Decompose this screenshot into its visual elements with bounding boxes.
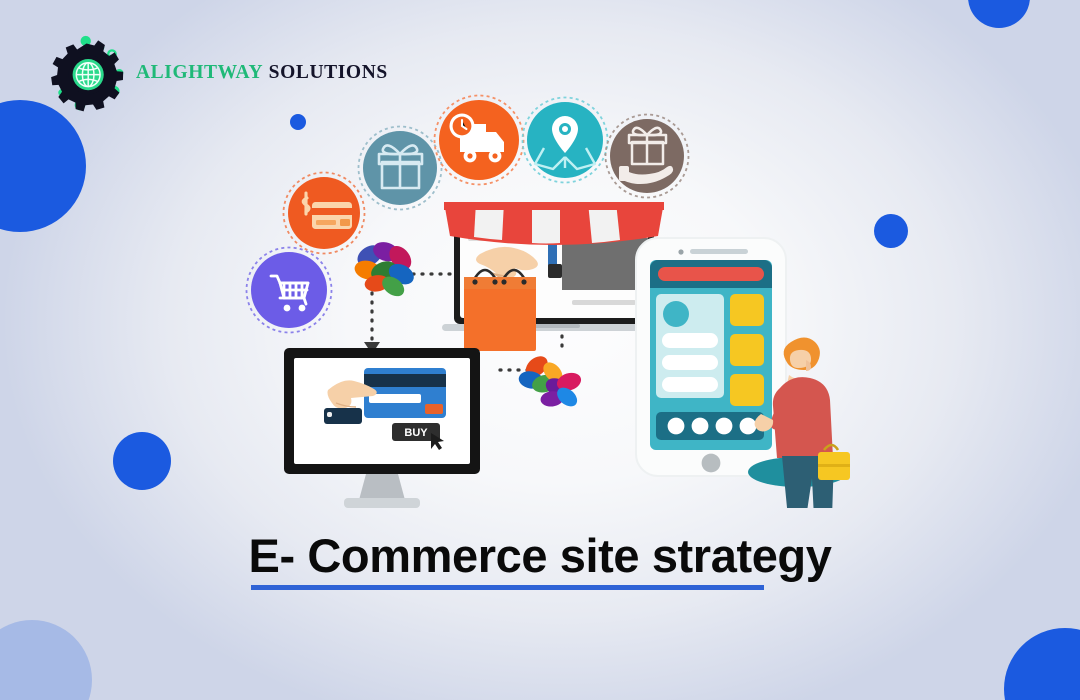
decor-circle-mid-left [113, 432, 171, 490]
location-badge [523, 98, 608, 183]
gift-badge [359, 127, 442, 210]
shopping-bag [464, 270, 536, 351]
page-title: E- Commerce site strategy [249, 528, 832, 590]
credit-card-badge [284, 173, 365, 254]
mobile-shopping-scene [636, 238, 786, 476]
desktop-checkout-scene: BUY [284, 348, 480, 508]
fast-delivery-badge [435, 96, 524, 185]
storefront-laptop-scene [438, 202, 666, 351]
page-title-text: E- Commerce site strategy [249, 529, 832, 582]
pinwheel-decoration-upper [353, 239, 418, 300]
decor-circle-left-large [0, 100, 86, 232]
shopping-cart-badge [247, 248, 332, 333]
title-block: E- Commerce site strategy [0, 528, 1080, 590]
gift-in-hand-badge [606, 115, 689, 198]
decor-circle-right-small [874, 214, 908, 248]
poster-canvas: ALIGHTWAY SOLUTIONS [0, 0, 1080, 700]
buy-button-label: BUY [404, 427, 428, 439]
decor-circle-bottom-right [1004, 628, 1080, 700]
gear-globe-network-icon [48, 32, 130, 112]
pinwheel-decoration-lower [517, 352, 583, 410]
decor-circle-top-right [968, 0, 1030, 28]
e-commerce-strategy-illustration: BUY [232, 78, 872, 508]
decor-circle-bottom-left [0, 620, 92, 700]
title-underline [251, 585, 764, 590]
